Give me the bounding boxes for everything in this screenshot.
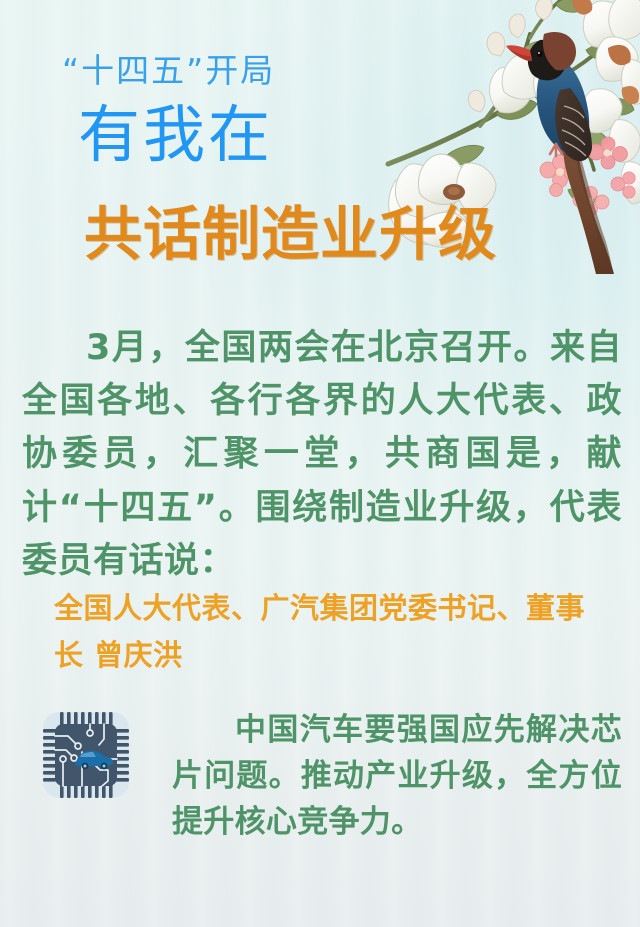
headline-blue: 有我在 bbox=[78, 104, 273, 166]
kicker-text: “十四五”开局 bbox=[62, 44, 275, 92]
lede-paragraph: 3月，全国两会在北京召开。来自全国各地、各行各界的人大代表、政协委员，汇聚一堂，… bbox=[22, 322, 622, 588]
quote-paragraph: 中国汽车要强国应先解决芯片问题。推动产业升级，全方位提升核心竞争力。 bbox=[172, 708, 622, 846]
headline-orange: 共话制造业升级 bbox=[84, 200, 497, 270]
lede-text: 3月，全国两会在北京召开。来自全国各地、各行各界的人大代表、政协委员，汇聚一堂，… bbox=[22, 328, 622, 581]
poster-canvas: “十四五”开局 有我在 共话制造业升级 3月，全国两会在北京召开。来自全国各地、… bbox=[0, 0, 640, 927]
speaker-title: 全国人大代表、广汽集团党委书记、董事长 曾庆洪 bbox=[54, 585, 614, 679]
chip-car-icon bbox=[38, 707, 134, 803]
quote-text: 中国汽车要强国应先解决芯片问题。推动产业升级，全方位提升核心竞争力。 bbox=[172, 712, 622, 840]
